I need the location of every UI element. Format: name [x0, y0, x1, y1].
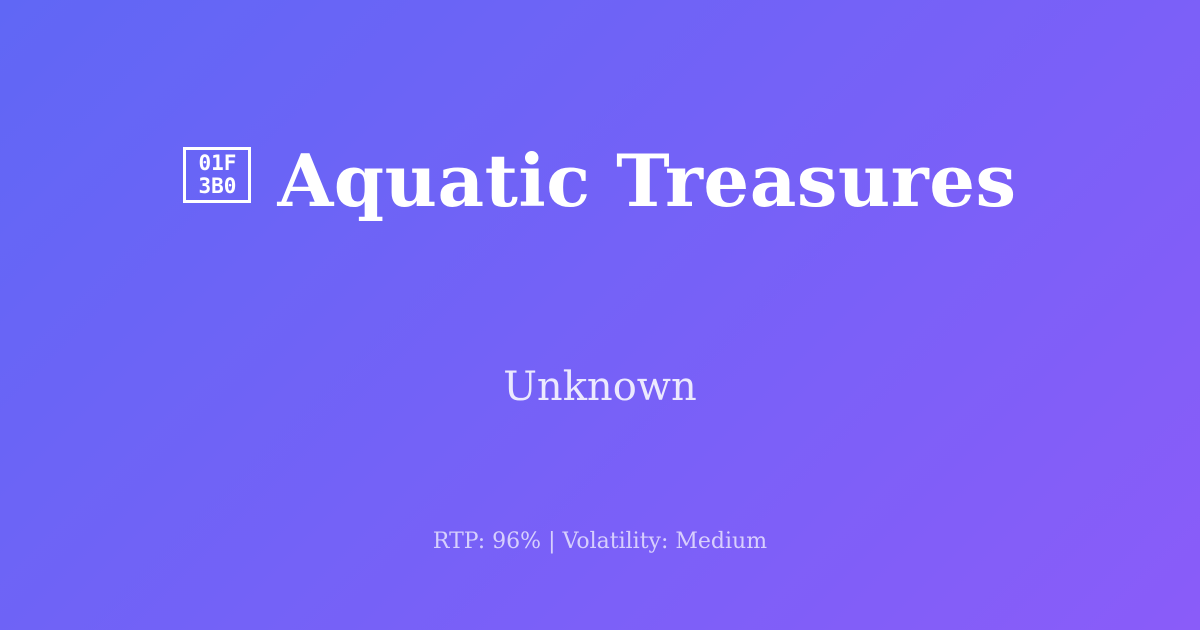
- icon-codepoint-top: 01F: [198, 152, 236, 175]
- page-title: Aquatic Treasures: [277, 141, 1016, 221]
- game-provider-subtitle: Unknown: [0, 363, 1200, 411]
- game-stats-line: RTP: 96% | Volatility: Medium: [0, 527, 1200, 557]
- slot-machine-icon: 01F 3B0: [183, 147, 251, 203]
- game-preview-card: 01F 3B0 Aquatic Treasures Unknown RTP: 9…: [0, 0, 1200, 630]
- icon-codepoint-bottom: 3B0: [198, 175, 236, 198]
